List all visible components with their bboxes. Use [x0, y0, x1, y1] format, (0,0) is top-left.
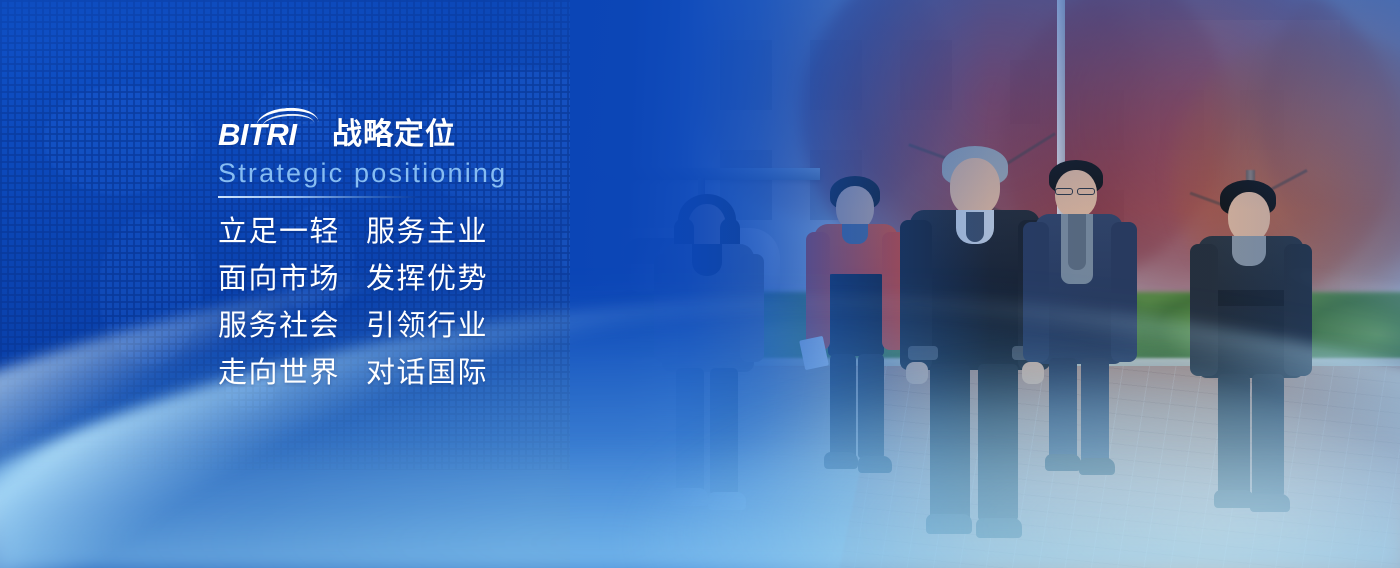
title-divider — [218, 196, 418, 198]
strategic-positioning-banner: BITRI 战略定位 Strategic positioning 立足一轻 服务… — [0, 0, 1400, 568]
slogan-line: 立足一轻 服务主业 — [218, 218, 648, 247]
campus-photo — [570, 0, 1400, 568]
slogan-line: 走向世界 对话国际 — [218, 359, 648, 388]
page-title: 战略定位 — [332, 120, 456, 150]
slogan-left: 服务社会 — [218, 312, 366, 341]
slogan-line: 面向市场 发挥优势 — [218, 265, 648, 294]
slogan-right: 引领行业 — [366, 312, 488, 341]
slogan-right: 发挥优势 — [366, 265, 488, 294]
slogan-left: 立足一轻 — [218, 218, 366, 247]
page-subtitle: Strategic positioning — [218, 159, 648, 189]
bitri-logo[interactable]: BITRI — [218, 108, 318, 150]
title-row: BITRI 战略定位 — [218, 104, 648, 150]
slogan-list: 立足一轻 服务主业 面向市场 发挥优势 服务社会 引领行业 走向世界 对话国际 — [218, 218, 648, 388]
slogan-left: 走向世界 — [218, 359, 366, 388]
slogan-right: 对话国际 — [366, 359, 488, 388]
banner-copy-block: BITRI 战略定位 Strategic positioning 立足一轻 服务… — [218, 104, 648, 388]
slogan-left: 面向市场 — [218, 265, 366, 294]
photo-right-tint — [1210, 0, 1400, 568]
slogan-line: 服务社会 引领行业 — [218, 312, 648, 341]
slogan-right: 服务主业 — [366, 218, 488, 247]
bitri-wordmark: BITRI — [218, 119, 296, 150]
